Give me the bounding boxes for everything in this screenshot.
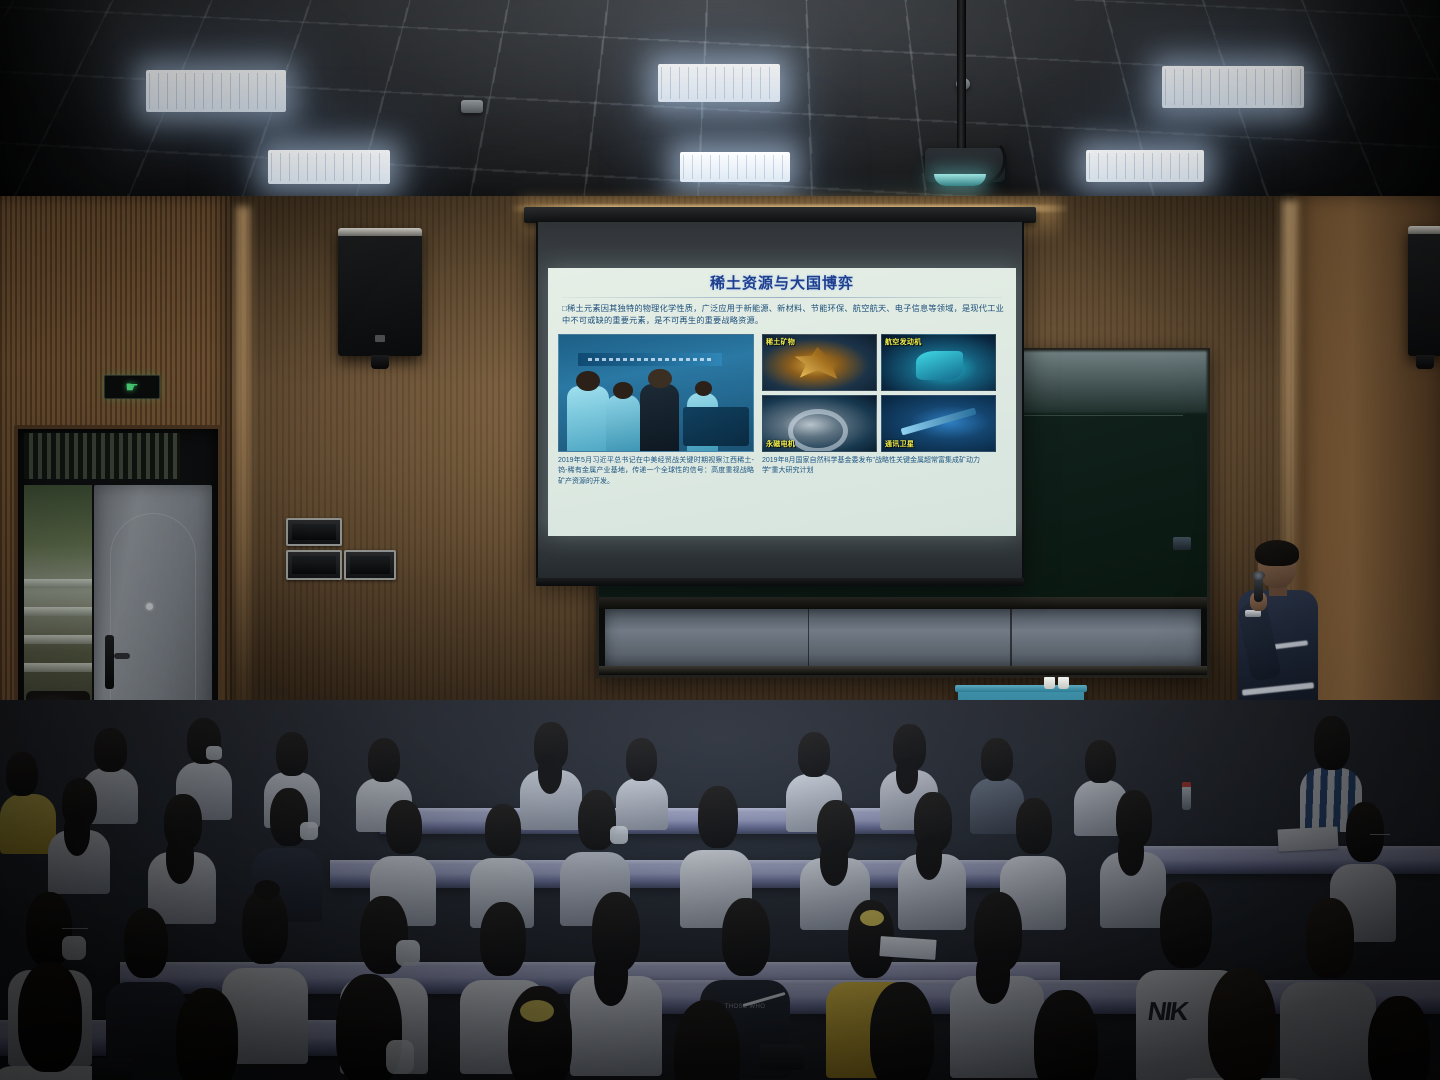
audience-member [150, 988, 270, 1080]
left-corner-light [236, 206, 250, 726]
audience-member [838, 982, 968, 1080]
student-head [1016, 798, 1052, 854]
smartphone-on-desk[interactable] [760, 1044, 804, 1070]
whiteboard-seam-1 [808, 609, 810, 671]
ceiling-left-shadow [0, 0, 120, 215]
photo-aero-engine: 航空发动机 [881, 334, 996, 391]
wall-panel-box-1 [286, 518, 342, 546]
face-mask [300, 822, 318, 840]
exit-sign: ☛ [104, 375, 160, 399]
slide-left-column: 2019年5月习近平总书记在中美经贸战关键时期视察江西稀土-钨-稀有金属产业基地… [558, 334, 754, 488]
audience-member [1348, 996, 1440, 1080]
speaker-top-trim [338, 228, 422, 236]
face-mask [206, 746, 222, 760]
photo-person-2 [606, 395, 641, 451]
projector-mount-pole [957, 0, 966, 152]
student-head [722, 898, 770, 976]
photo-permanent-magnet-motor: 永磁电机 [762, 395, 877, 452]
student-head [870, 982, 934, 1080]
student-head [368, 738, 400, 782]
photo-person-1 [567, 386, 610, 451]
lecture-hall-scene: ☛ [0, 0, 1440, 1080]
projection-screen-housing [524, 207, 1036, 223]
hair-scrunchie [520, 1000, 554, 1022]
slide-content-columns: 2019年5月习近平总书记在中美经贸战关键时期视察江西稀土-钨-稀有金属产业基地… [558, 334, 1006, 488]
outdoor-railing-1 [24, 579, 92, 588]
student-head [1085, 740, 1116, 783]
presentation-slide: 稀土资源与大国博弈 □稀土元素因其独特的物理化学性质，广泛应用于新能源、新材料、… [548, 268, 1016, 536]
audience-seating-area: THOSE WHO NIK [0, 700, 1440, 1080]
student-head [1314, 716, 1350, 770]
face-mask [396, 940, 420, 966]
speaker-bracket [371, 355, 389, 369]
student-head [485, 804, 521, 856]
student-head [798, 732, 830, 777]
student-head [1034, 990, 1098, 1080]
audience-member [306, 974, 438, 1080]
projection-screen: 稀土资源与大国博弈 □稀土元素因其独特的物理化学性质，广泛应用于新能源、新材料、… [536, 222, 1024, 582]
hair-bun [254, 880, 280, 900]
whiteboard-seam-2 [1010, 609, 1012, 671]
slide-right-column: 稀土矿物 航空发动机 永磁电机 通讯卫星 2019年8月国家自然科学基金委发布"… [762, 334, 996, 488]
door-handle-plate[interactable] [105, 635, 114, 689]
smoke-detector-1 [461, 100, 483, 113]
slide-title: 稀土资源与大国博弈 [558, 274, 1006, 294]
student-head [626, 738, 657, 781]
ceiling-light-4 [268, 150, 390, 184]
photo-central-figure-head [648, 369, 671, 389]
photo-person-2-head [613, 382, 632, 398]
chalkboard-eraser[interactable] [1173, 537, 1191, 550]
board-divider-rail [599, 597, 1207, 609]
board-chalk-tray [599, 666, 1207, 675]
lecturer [1228, 540, 1324, 722]
face-mask [610, 826, 628, 844]
ponytail [820, 840, 848, 886]
student-head [480, 902, 526, 976]
ceiling-light-5 [680, 152, 790, 182]
outdoor-railing-4 [24, 663, 92, 672]
student-head [1160, 882, 1212, 968]
ponytail [1118, 832, 1144, 876]
lecturer-wristwatch [1245, 610, 1261, 617]
hair-scrunchie [860, 910, 884, 926]
paper-cup-2[interactable] [1058, 677, 1069, 689]
wall-speaker-right [1408, 226, 1440, 356]
eyeglasses [1370, 834, 1390, 838]
lower-whiteboard [605, 609, 1201, 671]
slide-body-text: □稀土元素因其独特的物理化学性质，广泛应用于新能源、新材料、节能环保、航空航天、… [562, 303, 1004, 328]
photo-central-figure [640, 384, 679, 451]
eyeglasses [62, 928, 88, 932]
photo-label-motor: 永磁电机 [766, 439, 795, 449]
ceiling [0, 0, 1440, 215]
right-photo-caption: 2019年8月国家自然科学基金委发布"战略性关键金属超常富集成矿动力学"重大研究… [762, 456, 996, 477]
student-head [674, 1000, 740, 1080]
leader-visit-photo [558, 334, 754, 452]
smartphone-on-desk[interactable] [92, 1058, 132, 1080]
projector-lens [934, 174, 986, 186]
ceiling-right-shadow [1280, 0, 1440, 215]
running-person-exit-icon: ☛ [125, 380, 138, 395]
notebook-page[interactable] [1277, 826, 1338, 851]
wall-speaker-left [338, 228, 422, 356]
ponytail [64, 812, 90, 856]
student-head [1368, 996, 1430, 1080]
bottle-cap [1182, 782, 1191, 787]
student-head [276, 732, 308, 776]
student-head [94, 728, 127, 772]
face-mask [62, 936, 86, 960]
audience-member [48, 774, 110, 890]
photo-label-mineral: 稀土矿物 [766, 337, 795, 347]
application-photo-grid: 稀土矿物 航空发动机 永磁电机 通讯卫星 [762, 334, 996, 452]
slide-title-rule [562, 297, 1002, 298]
speaker-badge [375, 335, 385, 342]
water-bottle[interactable] [1182, 786, 1191, 810]
ponytail [896, 758, 918, 794]
door-lever-handle[interactable] [114, 653, 130, 659]
door-peephole [146, 603, 153, 610]
photo-communication-satellite: 通讯卫星 [881, 395, 996, 452]
student-head [1346, 802, 1384, 862]
student-head [18, 962, 82, 1072]
wall-panel-box-2 [286, 550, 342, 580]
outdoor-railing-3 [24, 635, 92, 644]
outdoor-railing-2 [24, 607, 92, 616]
audience-member [480, 986, 604, 1080]
left-photo-caption: 2019年5月习近平总书记在中美经贸战关键时期视察江西稀土-钨-稀有金属产业基地… [558, 456, 754, 488]
photo-equipment [683, 407, 749, 446]
student-head [124, 908, 168, 978]
student-head [6, 752, 38, 796]
photo-person-1-head [576, 371, 599, 391]
photo-label-satellite: 通讯卫星 [885, 439, 914, 449]
notebook-page[interactable] [879, 936, 936, 960]
door-transom-grille [24, 433, 180, 479]
screen-upper-blank [538, 222, 1022, 267]
speaker-bracket-right [1416, 355, 1434, 369]
ponytail [166, 836, 194, 884]
ponytail [538, 754, 562, 794]
face-mask [386, 1040, 414, 1074]
photo-banner [578, 353, 722, 366]
student-head [698, 786, 738, 848]
speaker-top-trim-right [1408, 226, 1440, 234]
ponytail [916, 836, 942, 880]
audience-member [1004, 990, 1132, 1080]
student-head [176, 988, 238, 1080]
ceiling-light-2 [658, 64, 780, 102]
paper-cup-1[interactable] [1044, 677, 1055, 689]
photo-label-engine: 航空发动机 [885, 337, 922, 347]
student-head [981, 738, 1013, 781]
student-head [386, 800, 422, 854]
audience-member [148, 792, 216, 920]
ceiling-light-1 [146, 70, 286, 112]
student-head [1306, 898, 1354, 978]
photo-rare-earth-mineral: 稀土矿物 [762, 334, 877, 391]
projection-screen-weight-bar [536, 578, 1024, 586]
audience-member [1172, 968, 1312, 1080]
student-head [1208, 968, 1276, 1080]
lecturer-hair [1255, 540, 1299, 566]
audience-member [640, 1000, 776, 1080]
wall-panel-box-3 [344, 550, 396, 580]
ceiling-light-6 [1086, 150, 1204, 182]
microphone-head [1252, 571, 1265, 580]
